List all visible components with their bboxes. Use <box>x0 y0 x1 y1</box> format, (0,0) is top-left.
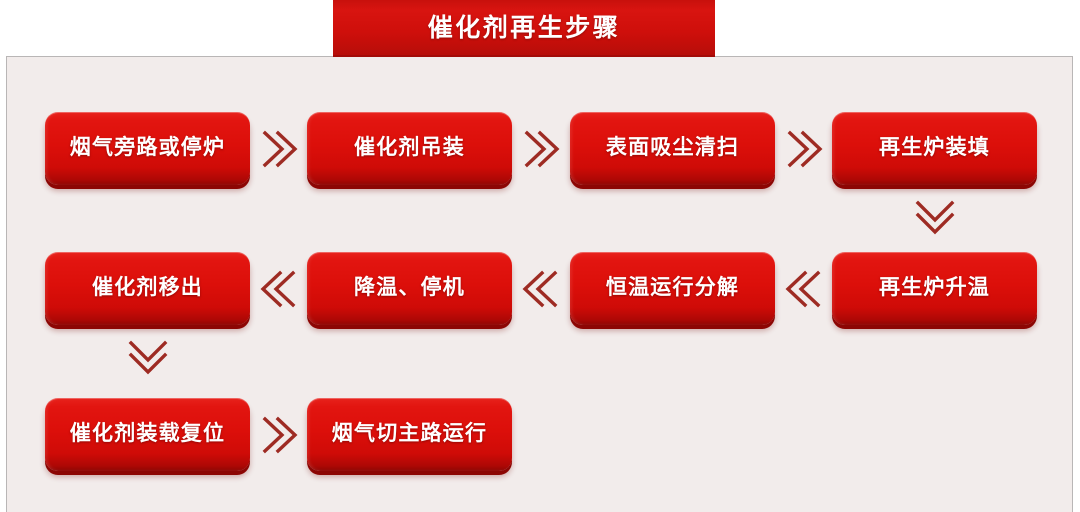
flow-node-n6[interactable]: 降温、停机 <box>307 252 512 325</box>
connector-right-c3: » <box>783 127 825 171</box>
flow-node-n9[interactable]: 催化剂装载复位 <box>45 398 250 471</box>
connector-right-c1: » <box>258 127 300 171</box>
connector-right-c2: » <box>520 127 562 171</box>
flow-node-label: 再生炉装填 <box>879 137 990 158</box>
connector-left-c7: « <box>258 267 300 311</box>
flow-node-n2[interactable]: 催化剂吊装 <box>307 112 512 185</box>
connector-down-c4: ⌄⌄ <box>912 195 958 239</box>
connector-left-c5: « <box>783 267 825 311</box>
flow-node-label: 恒温运行分解 <box>606 277 739 298</box>
flow-node-n4[interactable]: 再生炉装填 <box>832 112 1037 185</box>
flow-node-label: 烟气旁路或停炉 <box>70 137 225 158</box>
flow-node-label: 催化剂装载复位 <box>70 423 225 444</box>
flow-node-label: 表面吸尘清扫 <box>606 137 739 158</box>
flow-node-n1[interactable]: 烟气旁路或停炉 <box>45 112 250 185</box>
flow-node-n3[interactable]: 表面吸尘清扫 <box>570 112 775 185</box>
flow-node-n8[interactable]: 再生炉升温 <box>832 252 1037 325</box>
connector-left-c6: « <box>520 267 562 311</box>
flow-node-n10[interactable]: 烟气切主路运行 <box>307 398 512 471</box>
flow-node-label: 再生炉升温 <box>879 277 990 298</box>
connector-down-c8: ⌄⌄ <box>125 335 171 379</box>
connector-right-c9: » <box>258 413 300 457</box>
diagram-canvas: 催化剂再生步骤 烟气旁路或停炉 » 催化剂吊装 » 表面吸尘清扫 » 再生炉装填 <box>0 0 1080 512</box>
flow-node-label: 催化剂移出 <box>92 277 203 298</box>
flow-node-label: 催化剂吊装 <box>354 137 465 158</box>
flow-node-n5[interactable]: 催化剂移出 <box>45 252 250 325</box>
flow-node-n7[interactable]: 恒温运行分解 <box>570 252 775 325</box>
title-banner: 催化剂再生步骤 <box>333 0 715 57</box>
flow-node-label: 烟气切主路运行 <box>332 423 487 444</box>
page-title: 催化剂再生步骤 <box>428 16 621 41</box>
flow-node-label: 降温、停机 <box>354 277 465 298</box>
